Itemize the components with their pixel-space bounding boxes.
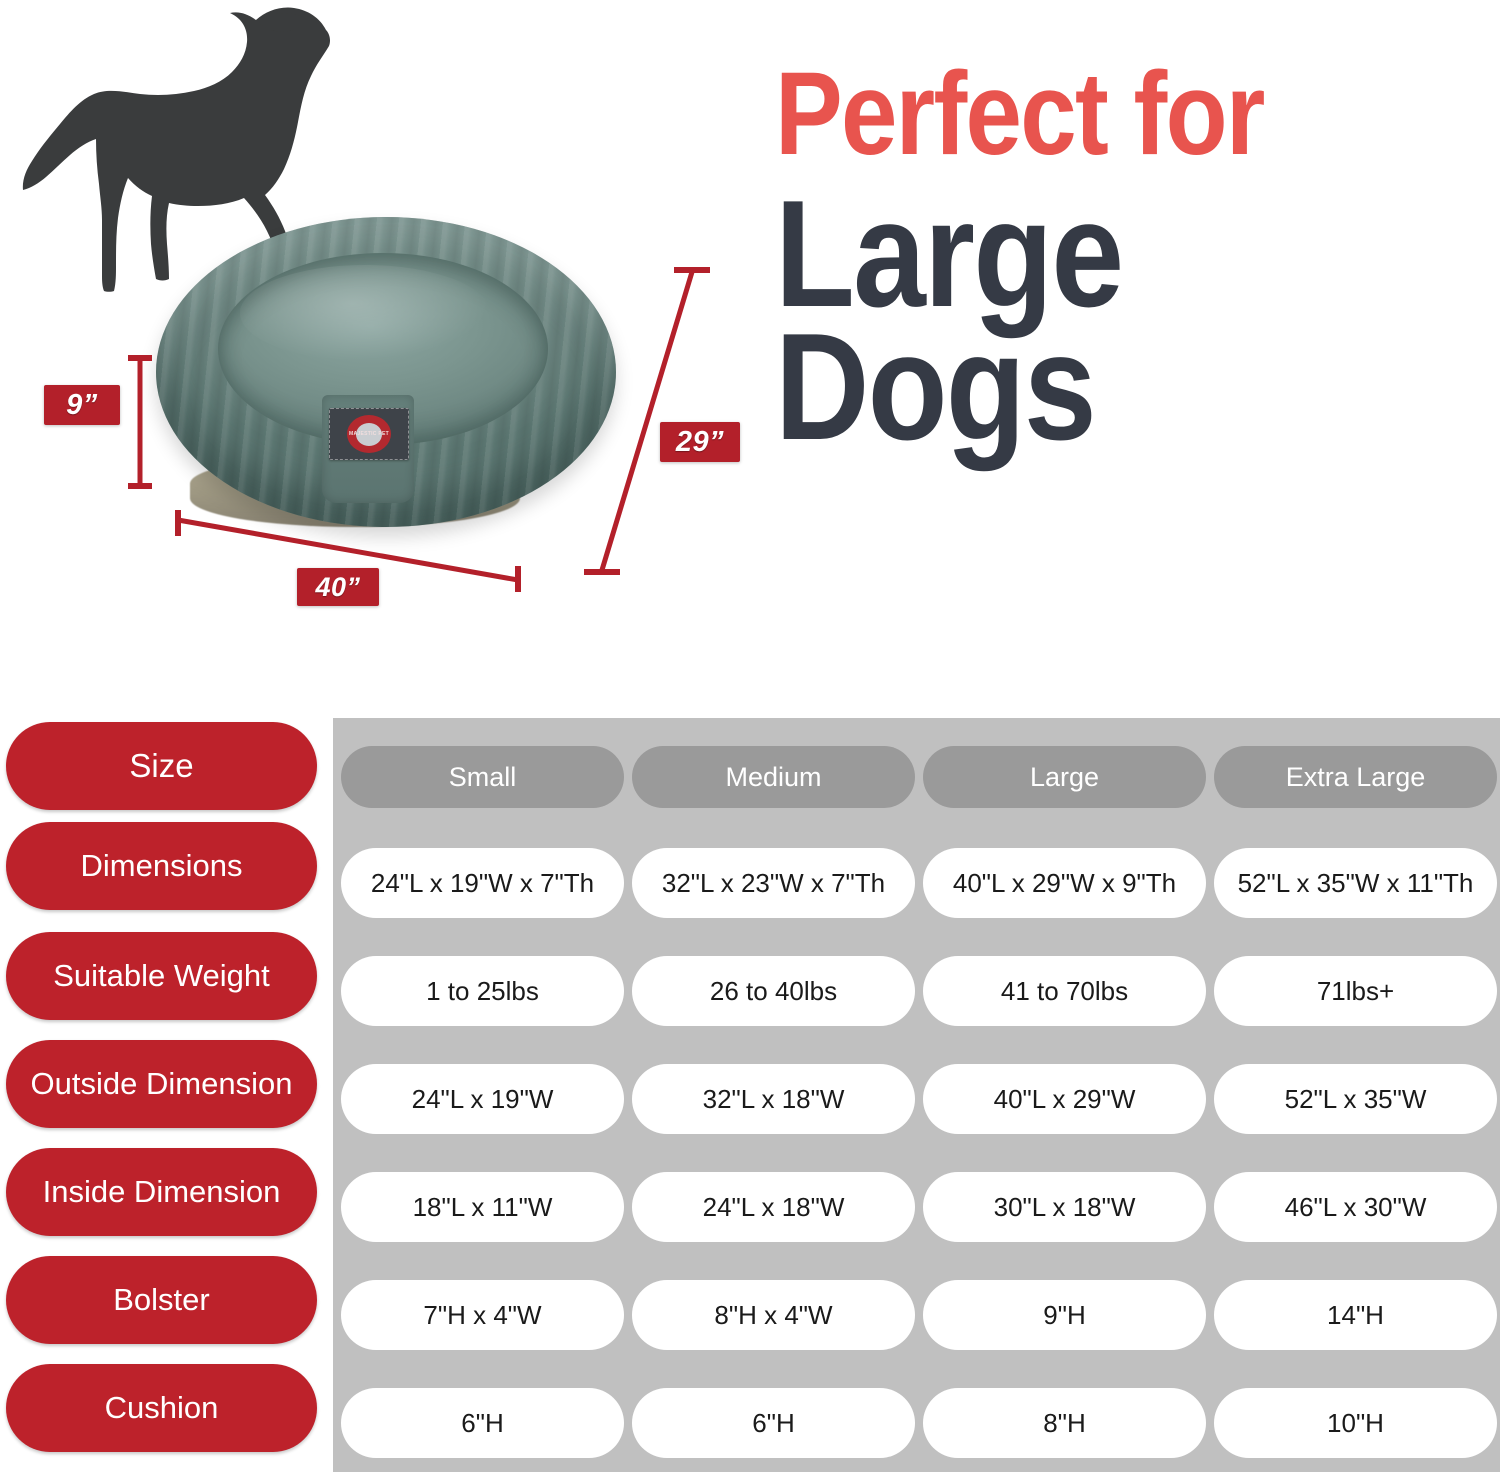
specification-table: SizeDimensionsSuitable WeightOutside Dim… (0, 700, 1500, 1472)
row-label-dimensions: Dimensions (6, 822, 317, 910)
column-header-extra-large: Extra Large (1214, 746, 1497, 808)
table-row: 6"H6"H8"H10"H (341, 1388, 1500, 1458)
cell-dimensions-medium: 32"L x 23"W x 7"Th (632, 848, 915, 918)
cell-inside-dimension-large: 30"L x 18"W (923, 1172, 1206, 1242)
cell-outside-dimension-large: 40"L x 29"W (923, 1064, 1206, 1134)
cell-cushion-small: 6"H (341, 1388, 624, 1458)
dimension-badge-height: 9” (44, 385, 120, 425)
cell-suitable-weight-extra-large: 71lbs+ (1214, 956, 1497, 1026)
product-photo: MAJESTIC PET (148, 205, 628, 550)
headline-line-3: Dogs (775, 317, 1377, 458)
brand-tag-label: MAJESTIC PET (349, 431, 389, 437)
row-label-column: SizeDimensionsSuitable WeightOutside Dim… (0, 700, 333, 1454)
height-dimension-line (128, 352, 152, 492)
cell-inside-dimension-small: 18"L x 11"W (341, 1172, 624, 1242)
column-header-small: Small (341, 746, 624, 808)
row-label-suitable-weight: Suitable Weight (6, 932, 317, 1020)
hero-section: MAJESTIC PET 9” 40” 29” Perfect for Larg… (0, 0, 1500, 700)
column-header-medium: Medium (632, 746, 915, 808)
table-header-row: SmallMediumLargeExtra Large (341, 746, 1500, 808)
headline: Perfect for Large Dogs (775, 60, 1475, 458)
column-header-large: Large (923, 746, 1206, 808)
table-row: 7"H x 4"W8"H x 4"W9"H14"H (341, 1280, 1500, 1350)
cell-cushion-extra-large: 10"H (1214, 1388, 1497, 1458)
brand-tag: MAJESTIC PET (329, 408, 409, 460)
cell-outside-dimension-small: 24"L x 19"W (341, 1064, 624, 1134)
table-row: 18"L x 11"W24"L x 18"W30"L x 18"W46"L x … (341, 1172, 1500, 1242)
cell-outside-dimension-extra-large: 52"L x 35"W (1214, 1064, 1497, 1134)
row-label-bolster: Bolster (6, 1256, 317, 1344)
headline-line-1: Perfect for (775, 60, 1377, 170)
cell-dimensions-extra-large: 52"L x 35"W x 11"Th (1214, 848, 1497, 918)
row-label-size: Size (6, 722, 317, 810)
cell-suitable-weight-large: 41 to 70lbs (923, 956, 1206, 1026)
table-row: 24"L x 19"W x 7"Th32"L x 23"W x 7"Th40"L… (341, 848, 1500, 918)
cell-inside-dimension-medium: 24"L x 18"W (632, 1172, 915, 1242)
table-row: 24"L x 19"W32"L x 18"W40"L x 29"W52"L x … (341, 1064, 1500, 1134)
row-label-inside-dimension: Inside Dimension (6, 1148, 317, 1236)
dimension-badge-width: 29” (660, 422, 740, 462)
cell-cushion-large: 8"H (923, 1388, 1206, 1458)
cell-outside-dimension-medium: 32"L x 18"W (632, 1064, 915, 1134)
row-label-cushion: Cushion (6, 1364, 317, 1452)
cell-bolster-small: 7"H x 4"W (341, 1280, 624, 1350)
table-row: 1 to 25lbs26 to 40lbs41 to 70lbs71lbs+ (341, 956, 1500, 1026)
cell-suitable-weight-small: 1 to 25lbs (341, 956, 624, 1026)
cell-dimensions-large: 40"L x 29"W x 9"Th (923, 848, 1206, 918)
bed-cushion-highlight (240, 265, 490, 361)
cell-bolster-large: 9"H (923, 1280, 1206, 1350)
cell-bolster-extra-large: 14"H (1214, 1280, 1497, 1350)
dimension-badge-length: 40” (297, 568, 379, 606)
cell-suitable-weight-medium: 26 to 40lbs (632, 956, 915, 1026)
row-label-outside-dimension: Outside Dimension (6, 1040, 317, 1128)
cell-cushion-medium: 6"H (632, 1388, 915, 1458)
cell-inside-dimension-extra-large: 46"L x 30"W (1214, 1172, 1497, 1242)
cell-dimensions-small: 24"L x 19"W x 7"Th (341, 848, 624, 918)
cell-bolster-medium: 8"H x 4"W (632, 1280, 915, 1350)
